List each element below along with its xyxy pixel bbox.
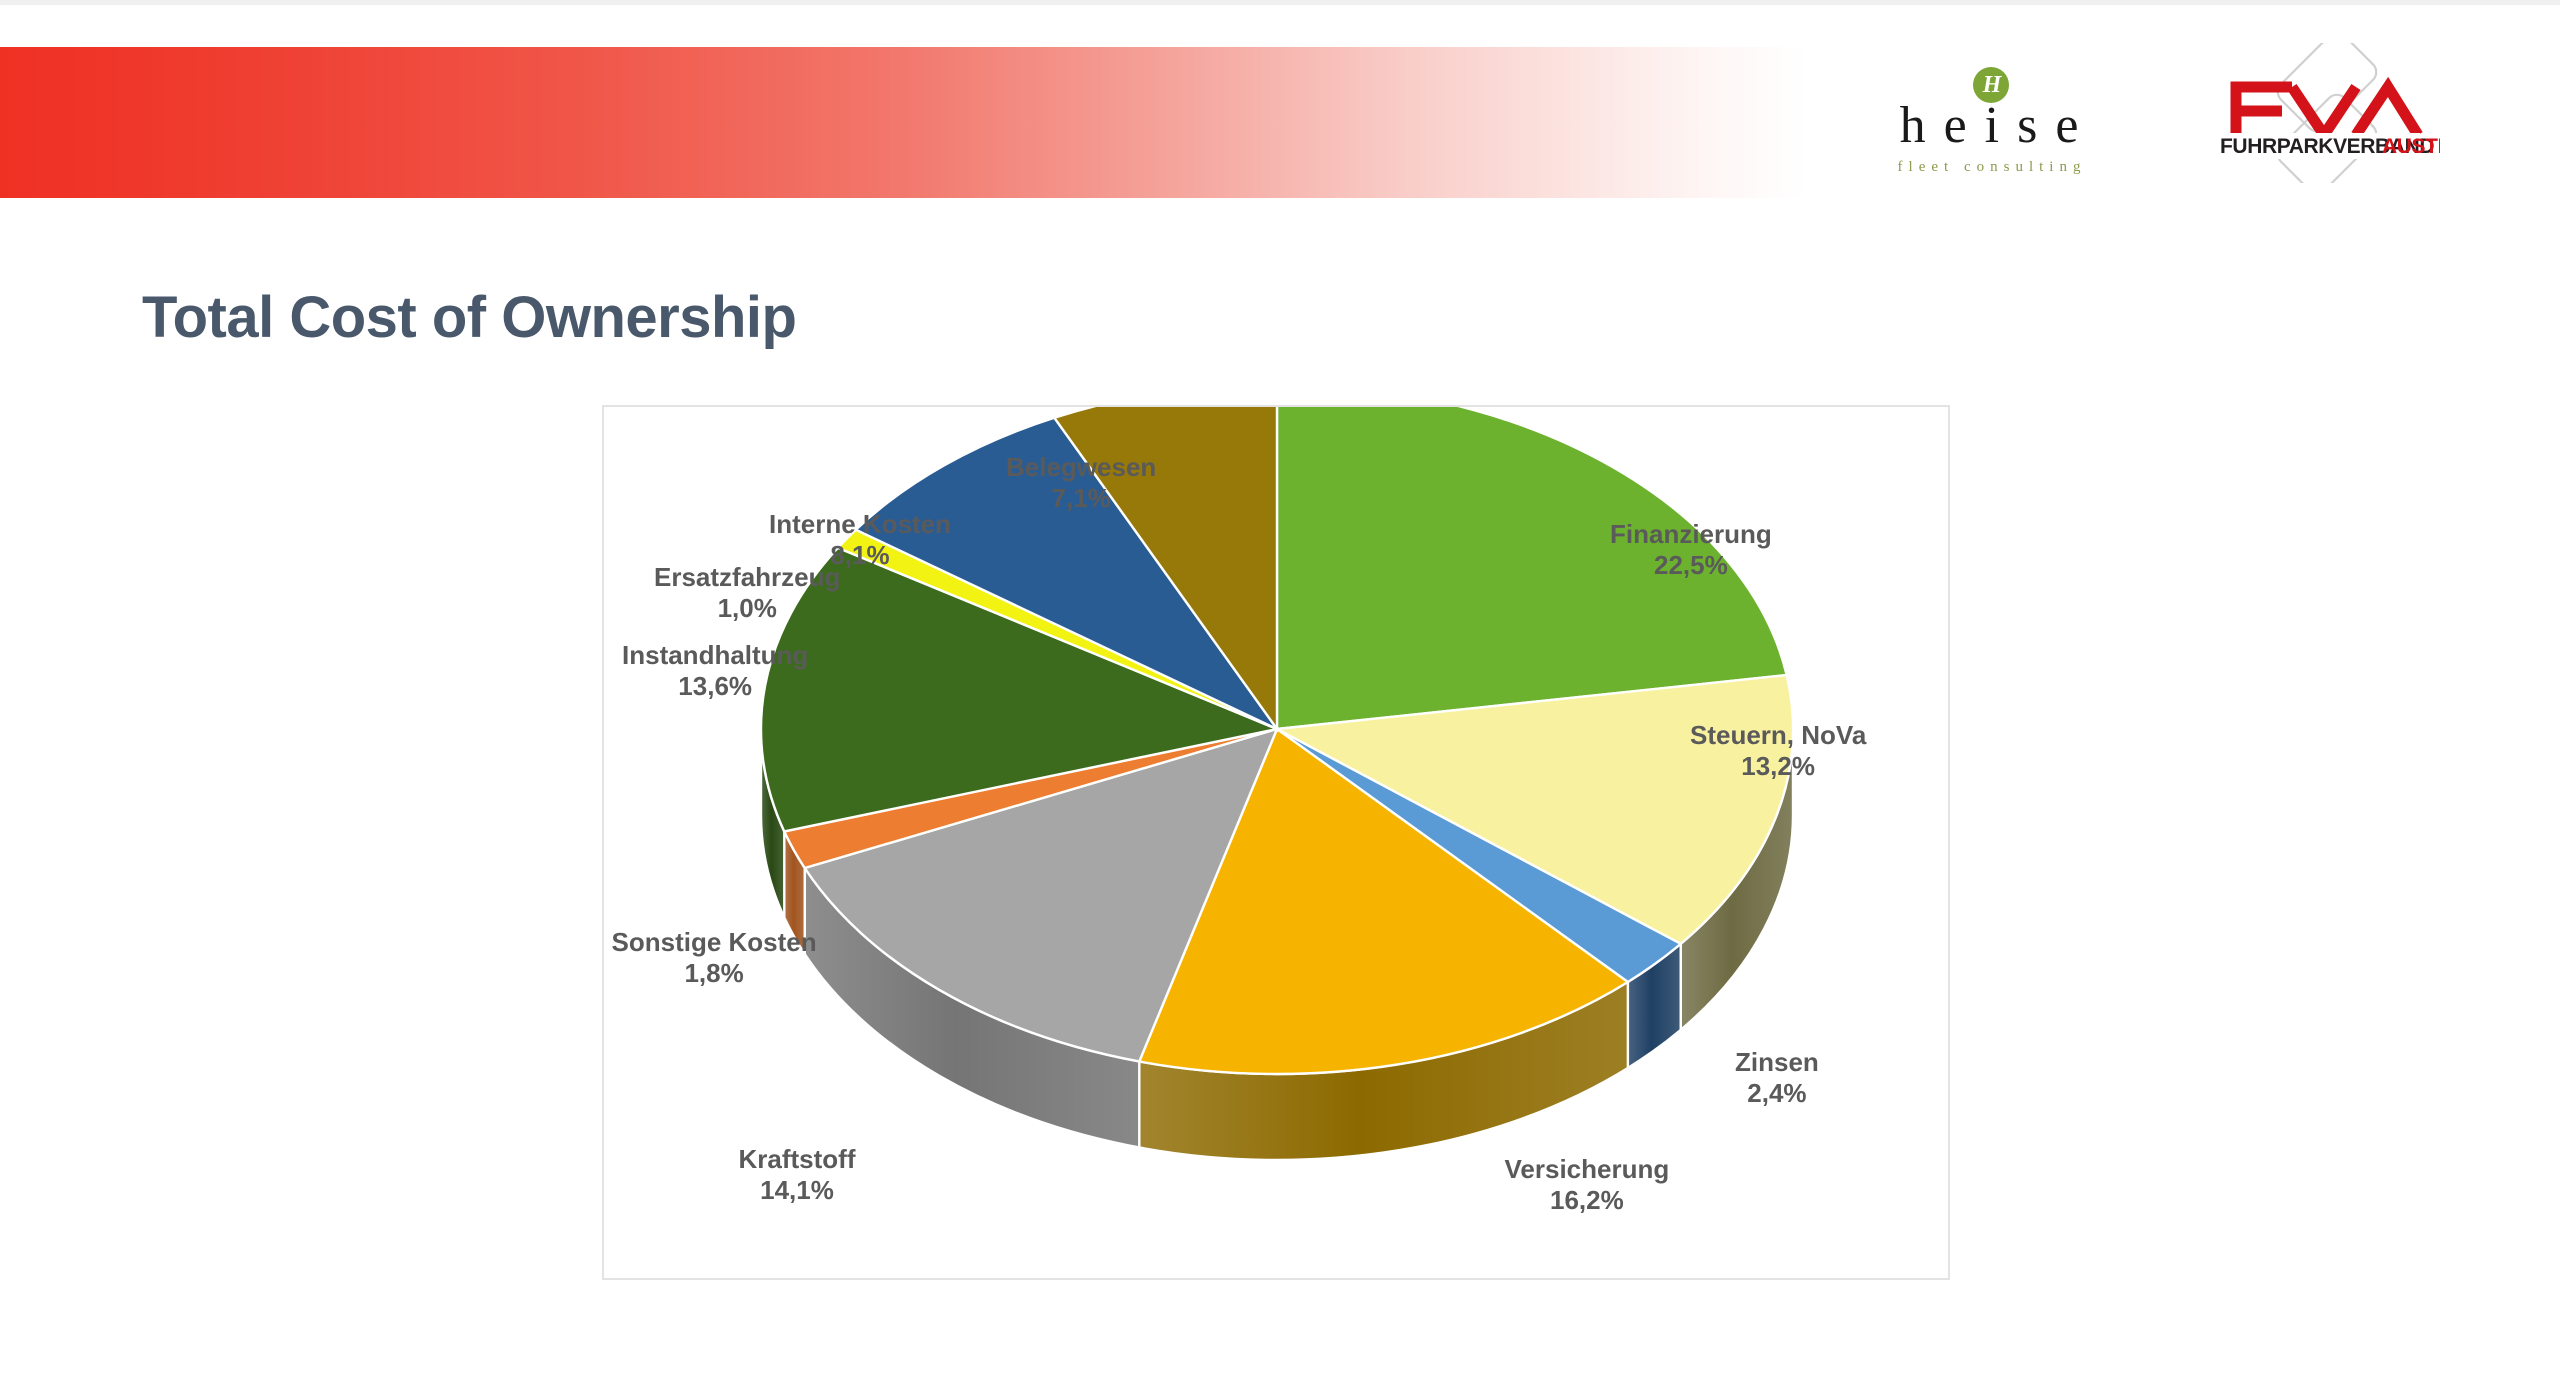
pie-label-value: 14,1% xyxy=(739,1175,856,1206)
pie-label-belegwesen: Belegwesen7,1% xyxy=(1006,452,1156,514)
pie-label-value: 7,1% xyxy=(1006,483,1156,514)
pie-label-value: 1,0% xyxy=(654,593,840,624)
pie-label-name: Zinsen xyxy=(1735,1047,1819,1078)
pie-label-kraftstoff: Kraftstoff14,1% xyxy=(739,1144,856,1206)
fva-logo: FUHRPARKVERBAND AUSTRIA xyxy=(2200,43,2440,183)
pie-label-steuern-nova: Steuern, NoVa13,2% xyxy=(1690,720,1866,782)
heise-wordmark: heise xyxy=(1855,95,2123,157)
pie-label-finanzierung: Finanzierung22,5% xyxy=(1610,519,1772,581)
pie-label-value: 13,2% xyxy=(1690,751,1866,782)
pie-label-value: 1,8% xyxy=(612,958,817,989)
pie-top-wedges xyxy=(761,407,1793,1074)
pie-label-value: 13,6% xyxy=(622,671,808,702)
chart-plot-area: Belegwesen7,1%Interne Kosten8,1%Ersatzfa… xyxy=(602,405,1950,1280)
header-red-banner xyxy=(0,47,1806,198)
pie-label-name: Interne Kosten xyxy=(769,509,951,540)
pie-label-value: 2,4% xyxy=(1735,1078,1819,1109)
fva-name-red: AUSTRIA xyxy=(2382,135,2440,158)
page-title: Total Cost of Ownership xyxy=(142,284,796,351)
slide-canvas: H heise fleet consulting FUHRPARKVERBAND… xyxy=(0,5,2560,1391)
fva-logo-svg: FUHRPARKVERBAND AUSTRIA xyxy=(2200,43,2440,183)
fva-letters-icon xyxy=(2236,87,2418,135)
heise-logo: H heise fleet consulting xyxy=(1855,67,2123,182)
pie-label-instandhaltung: Instandhaltung13,6% xyxy=(622,640,808,702)
pie-label-ersatzfahrzeug: Ersatzfahrzeug1,0% xyxy=(654,562,840,624)
pie-label-name: Finanzierung xyxy=(1610,519,1772,550)
pie-label-versicherung: Versicherung16,2% xyxy=(1505,1154,1670,1216)
pie-label-name: Sonstige Kosten xyxy=(612,927,817,958)
heise-tagline: fleet consulting xyxy=(1855,159,2123,176)
pie-label-name: Versicherung xyxy=(1505,1154,1670,1185)
pie-label-name: Instandhaltung xyxy=(622,640,808,671)
pie-label-value: 16,2% xyxy=(1505,1185,1670,1216)
pie-label-name: Ersatzfahrzeug xyxy=(654,562,840,593)
pie-label-sonstige-kosten: Sonstige Kosten1,8% xyxy=(612,927,817,989)
pie-label-zinsen: Zinsen2,4% xyxy=(1735,1047,1819,1109)
pie-label-name: Kraftstoff xyxy=(739,1144,856,1175)
pie-label-value: 22,5% xyxy=(1610,550,1772,581)
pie-label-name: Belegwesen xyxy=(1006,452,1156,483)
pie-label-name: Steuern, NoVa xyxy=(1690,720,1866,751)
